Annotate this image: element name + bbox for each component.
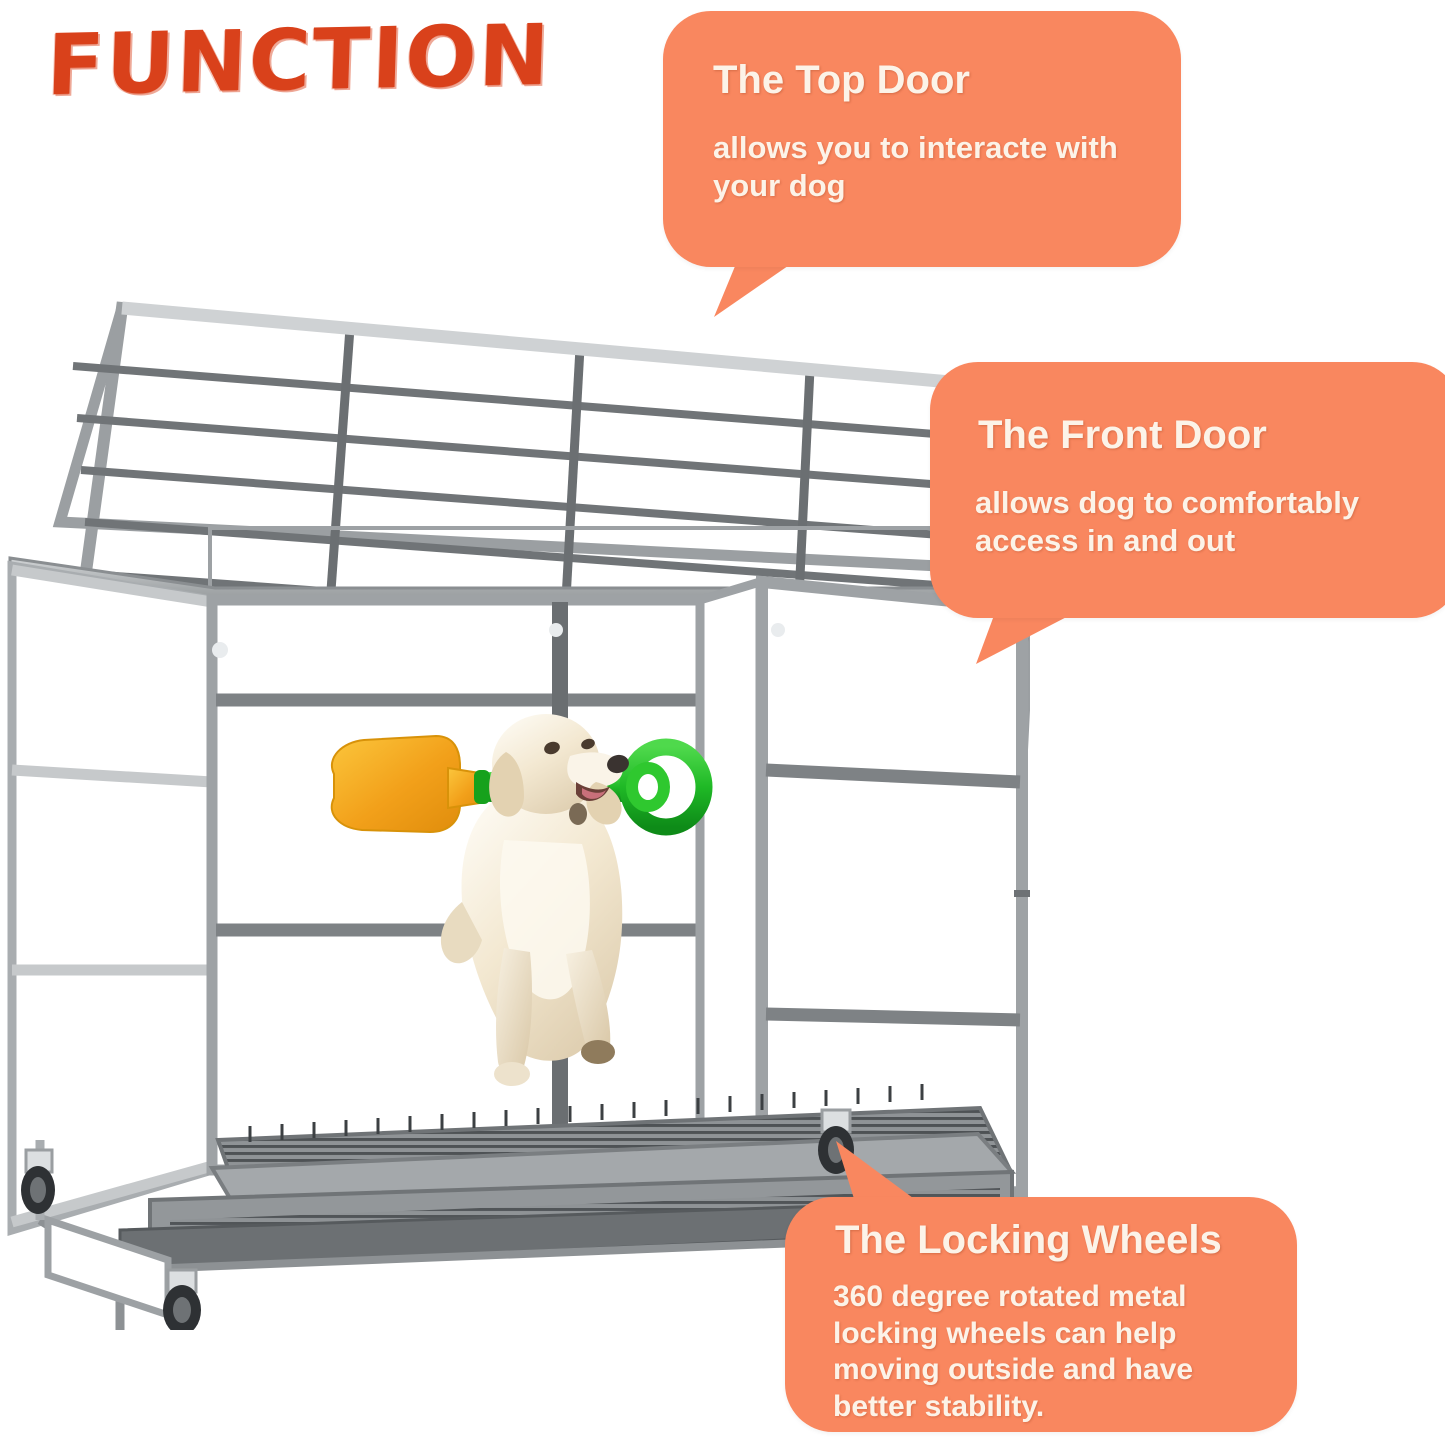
page-title: FUNCTION — [45, 13, 552, 108]
callout-heading: The Locking Wheels — [835, 1219, 1222, 1261]
callout-body: allows you to interacte with your dog — [713, 129, 1163, 205]
callout-top-door[interactable]: The Top Door allows you to interacte wit… — [663, 11, 1181, 267]
callout-heading: The Front Door — [978, 414, 1267, 456]
callout-heading: The Top Door — [713, 59, 970, 101]
callout-locking-wheels[interactable]: The Locking Wheels 360 degree rotated me… — [785, 1197, 1297, 1432]
callout-front-door[interactable]: The Front Door allows dog to comfortably… — [930, 362, 1445, 618]
callout-body: 360 degree rotated metal locking wheels … — [833, 1279, 1273, 1425]
dog-photo — [400, 690, 700, 1090]
callout-tail-front-door — [940, 608, 1080, 688]
callout-tail-top-door — [660, 255, 800, 335]
callout-body: allows dog to comfortably access in and … — [975, 484, 1445, 560]
left-side-panel — [12, 566, 212, 1230]
infographic-canvas: FUNCTION — [0, 0, 1445, 1445]
